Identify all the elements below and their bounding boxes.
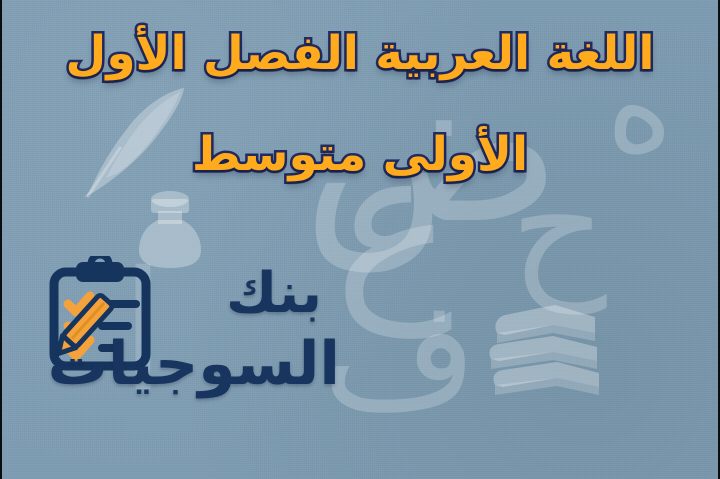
course-banner: ض ع ه ح ف ا [0, 0, 720, 479]
brand-word-sujiyat: السوجيات [48, 334, 340, 394]
brand-word-bank: بنك [226, 266, 322, 322]
course-title-line-1: اللغة العربية الفصل الأول [2, 26, 718, 81]
stacked-books-icon [479, 303, 609, 408]
brand-logo[interactable]: بنك السوجيات [40, 252, 340, 432]
course-title-line-2: الأولى متوسط [2, 127, 718, 182]
headline-block: اللغة العربية الفصل الأول الأولى متوسط [2, 26, 718, 183]
watermark-letter-fa: ف [322, 280, 478, 430]
